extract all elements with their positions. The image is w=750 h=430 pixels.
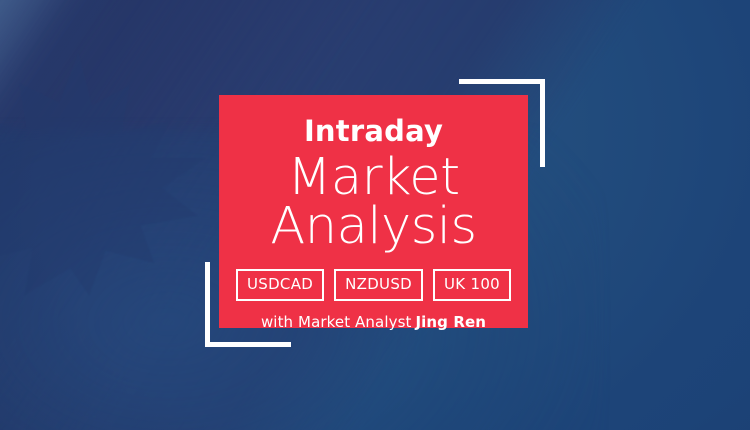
content-card: Intraday Market Analysis USDCAD NZDUSD U… (219, 95, 528, 328)
card-title: Market Analysis (270, 154, 476, 252)
card-title-line-1: Market (270, 154, 476, 203)
instrument-badge-usdcad[interactable]: USDCAD (236, 269, 324, 301)
instrument-badge-nzdusd[interactable]: NZDUSD (334, 269, 423, 301)
byline: with Market AnalystJing Ren (261, 315, 486, 330)
byline-analyst-name: Jing Ren (415, 313, 486, 331)
instrument-badge-uk100[interactable]: UK 100 (433, 269, 511, 301)
card-title-line-2: Analysis (270, 203, 476, 252)
instrument-badge-list: USDCAD NZDUSD UK 100 (236, 269, 511, 301)
card-kicker: Intraday (304, 117, 443, 146)
market-analysis-banner: Intraday Market Analysis USDCAD NZDUSD U… (0, 0, 750, 430)
byline-prefix: with Market Analyst (261, 313, 412, 331)
